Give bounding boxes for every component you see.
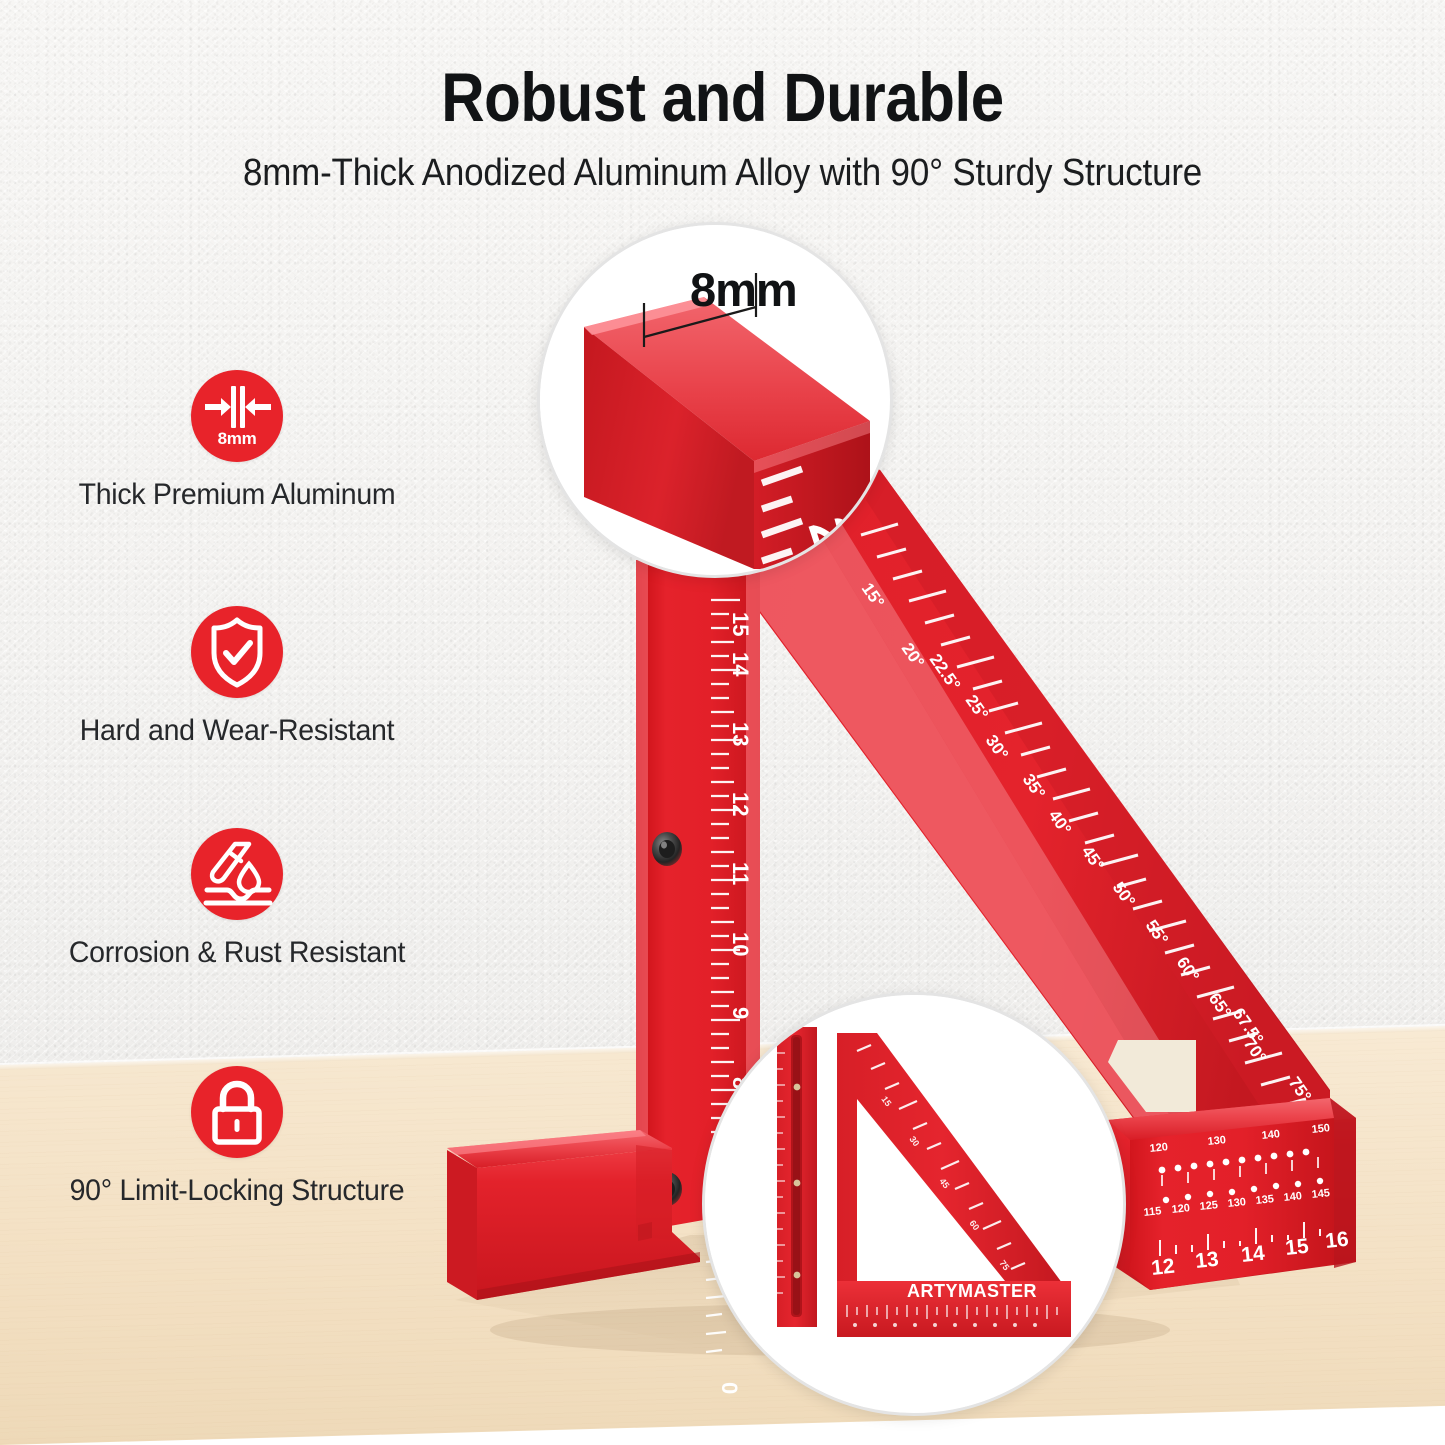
shield-check-icon xyxy=(191,606,283,698)
thickness-badge-value: 8mm xyxy=(191,429,283,449)
feature-item-locking: 90° Limit-Locking Structure xyxy=(22,1066,452,1208)
page-title: Robust and Durable xyxy=(94,62,1351,134)
padlock-icon xyxy=(191,1066,283,1158)
feature-label-locking: 90° Limit-Locking Structure xyxy=(33,1174,442,1208)
magnifier-folded-square-detail: 15 30 45 60 75 ARTYMASTER xyxy=(702,992,1126,1416)
thickness-dimension-label: 8mm xyxy=(690,262,797,317)
product-marketing-image: Robust and Durable 8mm-Thick Anodized Al… xyxy=(0,0,1445,1445)
brand-mark: ARTYMASTER xyxy=(907,1281,1037,1301)
feature-item-thickness: 8mm Thick Premium Aluminum xyxy=(22,370,452,512)
feature-item-wear: Hard and Wear-Resistant xyxy=(22,606,452,748)
folded-vertical-rail xyxy=(777,1027,817,1327)
test-tube-droplet-icon xyxy=(191,828,283,920)
feature-label-thickness: Thick Premium Aluminum xyxy=(33,478,442,512)
feature-label-wear: Hard and Wear-Resistant xyxy=(33,714,442,748)
feature-item-corrosion: Corrosion & Rust Resistant xyxy=(22,828,452,970)
page-subtitle: 8mm-Thick Anodized Aluminum Alloy with 9… xyxy=(58,152,1387,195)
feature-label-corrosion: Corrosion & Rust Resistant xyxy=(33,936,442,970)
thickness-arrows-icon: 8mm xyxy=(191,370,283,462)
